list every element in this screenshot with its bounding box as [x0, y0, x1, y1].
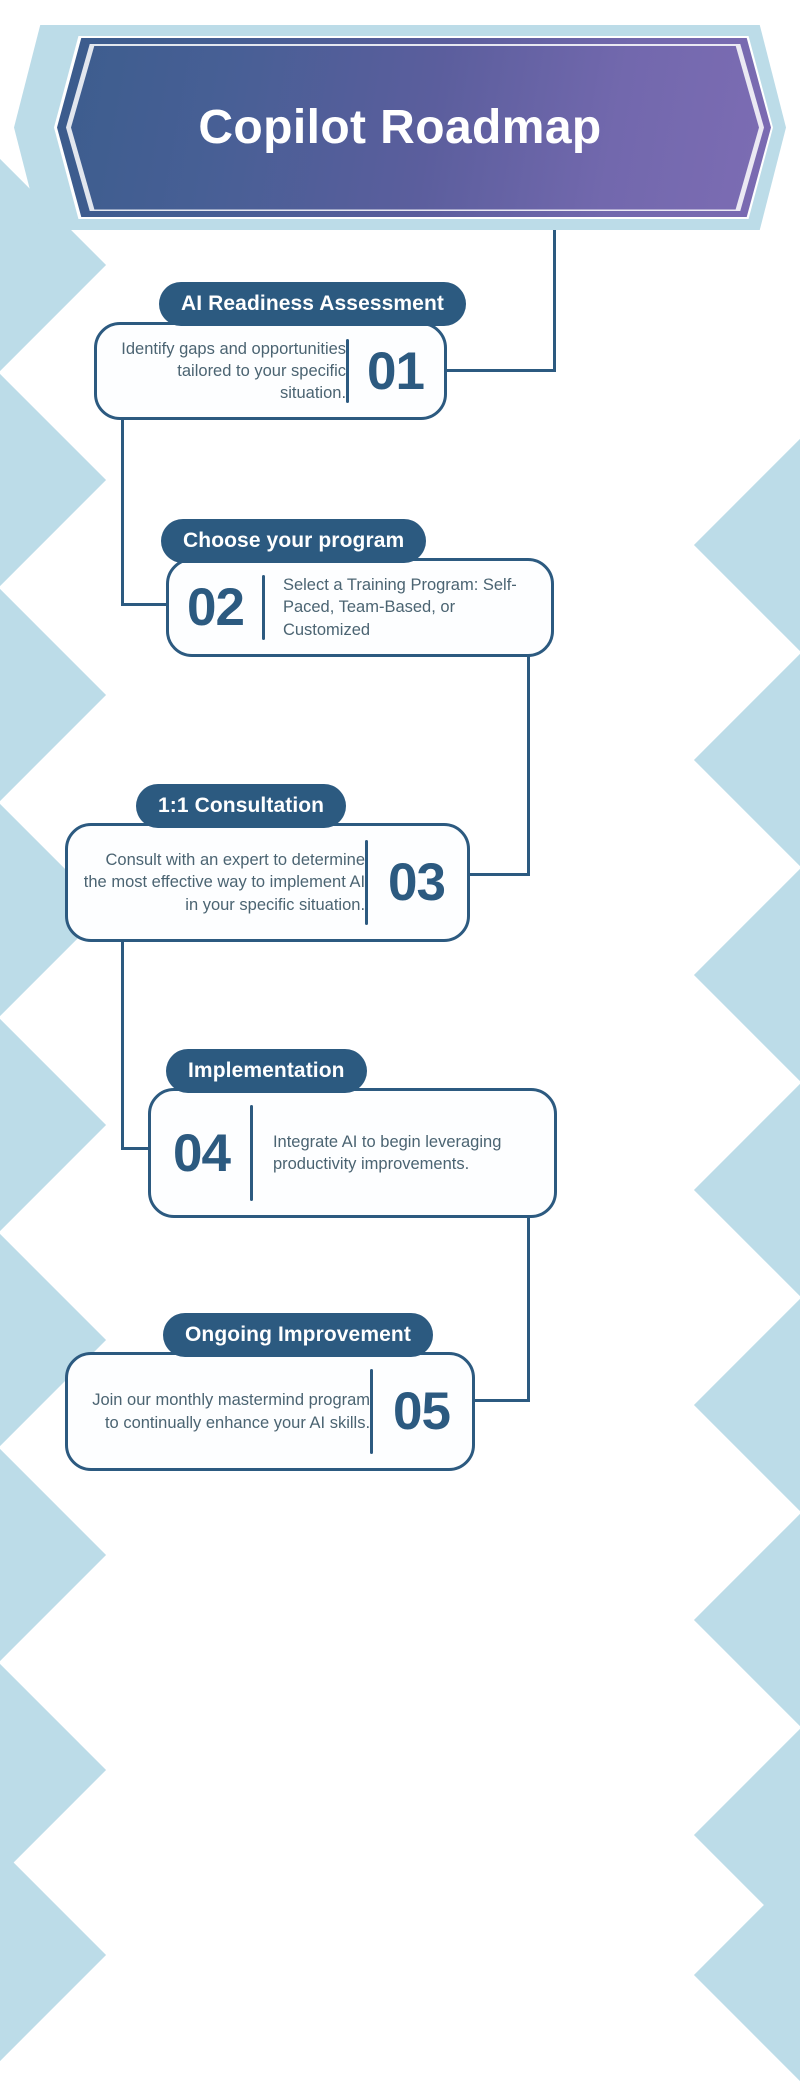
connector-step3-to-step4-vertical [121, 920, 124, 1150]
connector-step1-to-step2-vertical [121, 418, 124, 605]
step-1-description: Identify gaps and opportunities tailored… [111, 338, 346, 405]
decor-diamond-right-6 [694, 1514, 800, 1726]
step-3-label-text: 1:1 Consultation [158, 794, 324, 818]
step-1-number: 01 [367, 341, 424, 402]
decor-diamond-right-7 [694, 1729, 800, 1941]
step-2-number: 02 [187, 577, 244, 638]
step-4-description: Integrate AI to begin leveraging product… [273, 1131, 536, 1176]
step-3-divider [365, 840, 368, 925]
step-3-description: Consult with an expert to determine the … [82, 849, 365, 916]
step-3-card-body: Consult with an expert to determine the … [65, 823, 470, 942]
step-5-label: Ongoing Improvement [163, 1313, 433, 1357]
step-3-label: 1:1 Consultation [136, 784, 346, 828]
step-5-label-text: Ongoing Improvement [185, 1323, 411, 1347]
connector-header-to-step1-vertical [553, 228, 556, 372]
step-1-label-text: AI Readiness Assessment [181, 292, 444, 316]
step-4-card-body: 04 Integrate AI to begin leveraging prod… [148, 1088, 557, 1218]
step-4-divider [250, 1105, 253, 1201]
connector-step4-to-step5-horizontal [470, 1399, 530, 1402]
decor-diamond-left-7 [0, 1449, 106, 1661]
step-2-description: Select a Training Program: Self-Paced, T… [283, 574, 533, 641]
decor-diamond-left-2 [0, 374, 106, 586]
decor-diamond-right-5 [694, 1299, 800, 1511]
decor-diamond-right-4 [694, 1084, 800, 1296]
page-title: Copilot Roadmap [14, 25, 786, 230]
decor-diamond-left-9 [0, 1849, 106, 2061]
step-1-card-body: Identify gaps and opportunities tailored… [94, 322, 447, 420]
decor-diamond-left-5 [0, 1019, 106, 1231]
step-4-label-text: Implementation [188, 1059, 345, 1083]
step-1-label: AI Readiness Assessment [159, 282, 466, 326]
decor-diamond-right-8 [694, 1869, 800, 2081]
decor-diamond-right-1 [694, 439, 800, 651]
step-1-divider [346, 339, 349, 403]
step-4-label: Implementation [166, 1049, 367, 1093]
connector-step1-to-step2-horizontal [121, 603, 172, 606]
header-banner: Copilot Roadmap [14, 25, 786, 230]
step-5-number: 05 [393, 1381, 450, 1442]
decor-diamond-left-3 [0, 589, 106, 801]
decor-diamond-left-8 [0, 1664, 106, 1876]
decor-diamond-right-2 [694, 654, 800, 866]
connector-step4-to-step5-vertical [527, 1190, 530, 1402]
step-5-divider [370, 1369, 373, 1454]
step-5-card-body: Join our monthly mastermind program to c… [65, 1352, 475, 1471]
connector-step2-to-step3-vertical [527, 640, 530, 875]
step-2-label: Choose your program [161, 519, 426, 563]
decor-diamond-right-3 [694, 869, 800, 1081]
step-5-description: Join our monthly mastermind program to c… [82, 1389, 370, 1434]
step-2-card-body: 02 Select a Training Program: Self-Paced… [166, 558, 554, 657]
step-2-divider [262, 575, 265, 640]
step-3-number: 03 [388, 852, 445, 913]
connector-step2-to-step3-horizontal [466, 873, 530, 876]
connector-header-to-step1-horizontal [437, 369, 556, 372]
step-4-number: 04 [173, 1123, 230, 1184]
step-2-label-text: Choose your program [183, 529, 404, 553]
